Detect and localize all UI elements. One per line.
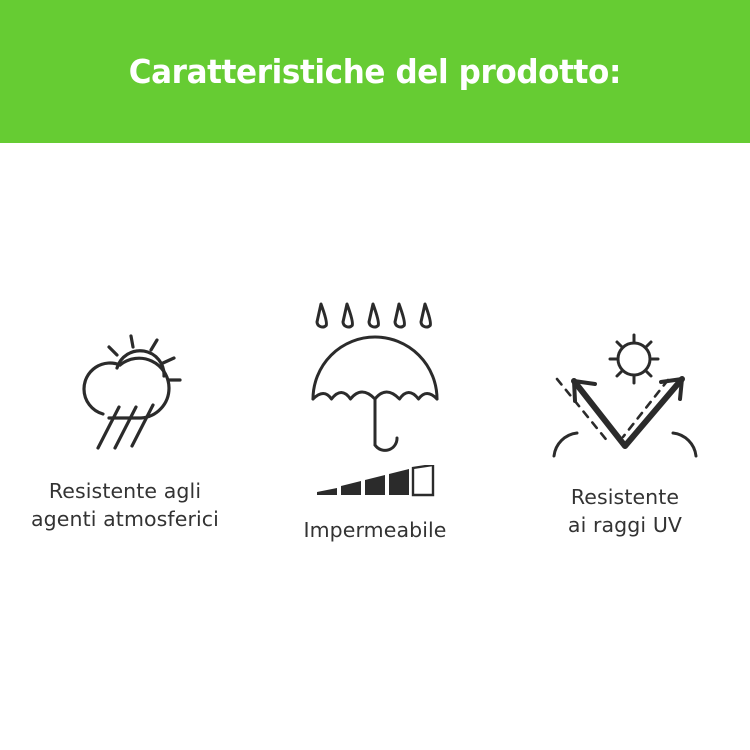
feature-label-weather-resistant: Resistente agli agenti atmosferici (31, 477, 219, 534)
raindrop-group (317, 304, 430, 327)
cloud-sun-rain-icon (57, 333, 193, 457)
feature-uv-resistant: Resistente ai raggi UV (500, 143, 750, 540)
feature-label-waterproof: Impermeabile (303, 516, 446, 544)
umbrella-raindrops-icon (305, 300, 445, 457)
feature-weather-resistant: Resistente agli agenti atmosferici (0, 143, 250, 534)
signal-bars-icon (315, 465, 435, 503)
sun-icon (610, 335, 658, 383)
header-banner: Caratteristiche del prodotto: (0, 0, 750, 143)
feature-label-uv-resistant: Resistente ai raggi UV (568, 483, 682, 540)
feature-waterproof: Impermeabile (250, 143, 500, 544)
page-title: Caratteristiche del prodotto: (129, 55, 621, 88)
sun-uv-reflect-icon (551, 333, 699, 461)
features-row: Resistente agli agenti atmosferici (0, 143, 750, 750)
uv-reflect-arrow (574, 379, 682, 446)
product-features-page: Caratteristiche del prodotto: (0, 0, 750, 750)
